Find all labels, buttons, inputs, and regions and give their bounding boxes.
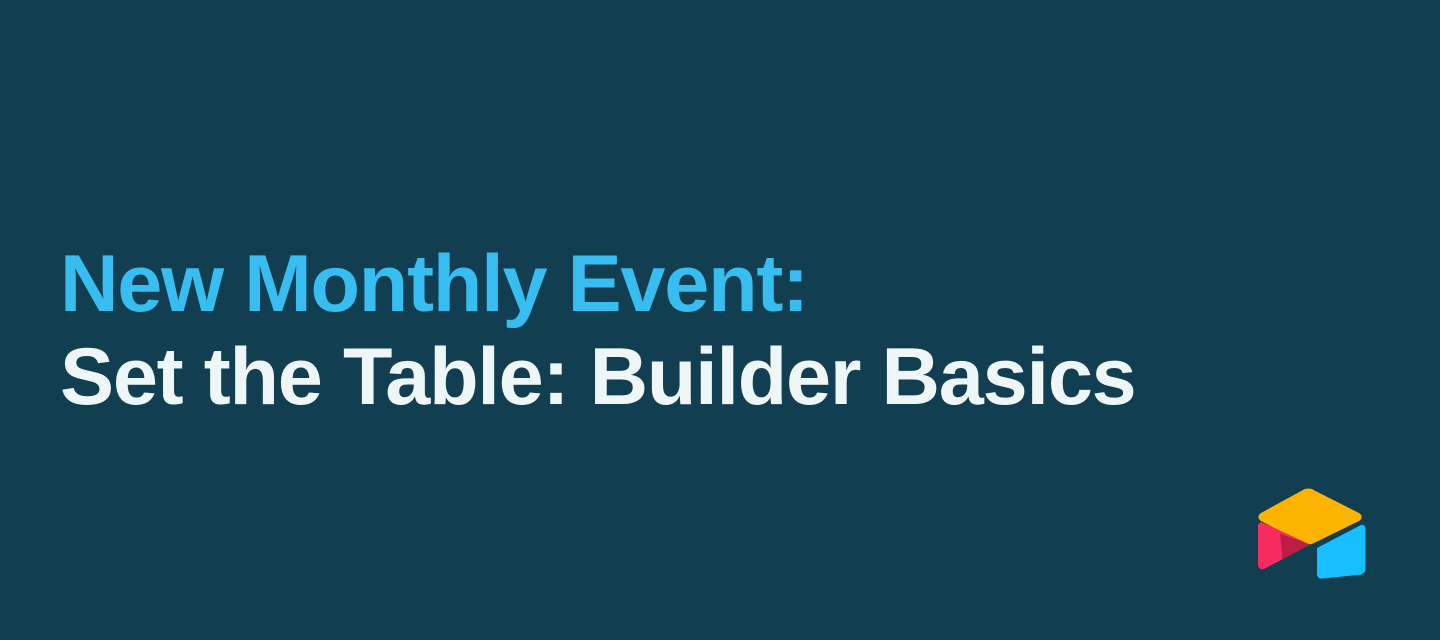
airtable-logo-icon <box>1252 482 1372 584</box>
airtable-logo <box>1252 482 1372 584</box>
headline-block: New Monthly Event: Set the Table: Builde… <box>60 238 1360 424</box>
event-announcement-banner: New Monthly Event: Set the Table: Builde… <box>0 0 1440 640</box>
headline-eyebrow: New Monthly Event: <box>60 238 1360 331</box>
headline-title: Set the Table: Builder Basics <box>60 331 1360 424</box>
